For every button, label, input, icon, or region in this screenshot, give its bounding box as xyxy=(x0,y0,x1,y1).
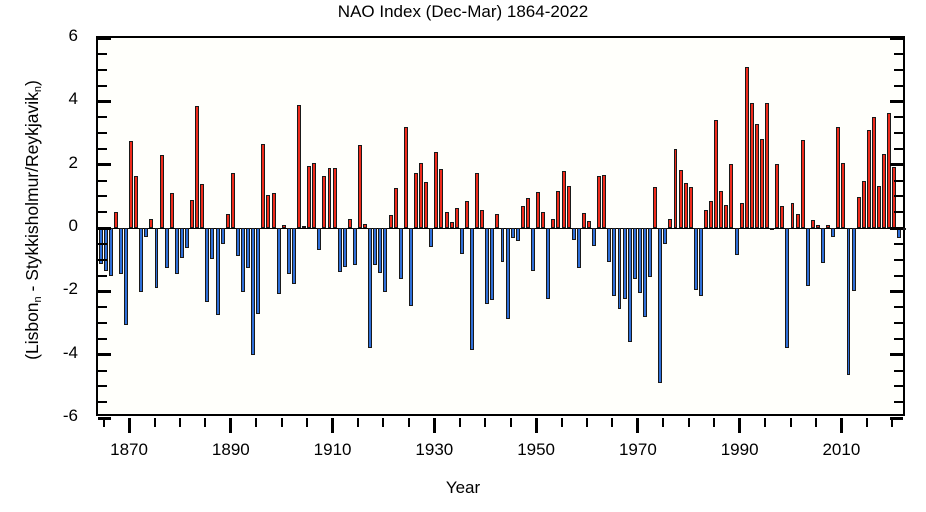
y-tick-major-right xyxy=(890,227,903,230)
y-tick-minor-right xyxy=(894,275,903,277)
bar xyxy=(821,228,825,263)
x-tick-minor xyxy=(154,418,156,427)
y-tick-minor-right xyxy=(894,85,903,87)
bar xyxy=(765,103,769,228)
bar xyxy=(796,214,800,228)
y-tick-major xyxy=(98,100,111,103)
y-tick-major-right xyxy=(890,100,903,103)
bar xyxy=(729,164,733,228)
bar xyxy=(383,228,387,292)
bar xyxy=(785,228,789,348)
bar xyxy=(389,215,393,228)
bar xyxy=(699,228,703,296)
x-tick-minor xyxy=(306,418,308,427)
bar xyxy=(607,228,611,262)
y-tick-minor xyxy=(98,116,107,118)
bar xyxy=(195,106,199,228)
bar xyxy=(460,228,464,254)
bar xyxy=(694,228,698,290)
bar xyxy=(272,193,276,228)
bar xyxy=(439,169,443,228)
y-tick-label: 6 xyxy=(69,27,78,44)
bar xyxy=(348,219,352,229)
x-tick-major xyxy=(128,418,131,433)
bar xyxy=(689,187,693,228)
bar xyxy=(521,206,525,228)
bar xyxy=(704,210,708,228)
bar xyxy=(572,228,576,240)
y-tick-minor xyxy=(98,243,107,245)
y-tick-minor-right xyxy=(894,211,903,213)
y-tick-minor xyxy=(98,401,107,403)
x-tick-minor xyxy=(382,418,384,427)
y-tick-minor xyxy=(98,385,107,387)
bar xyxy=(663,228,667,244)
bar xyxy=(343,228,347,267)
y-tick-minor-right xyxy=(894,322,903,324)
y-tick-label: -6 xyxy=(63,407,78,424)
bar xyxy=(251,228,255,355)
x-tick-label: 2010 xyxy=(822,440,860,460)
bar xyxy=(628,228,632,342)
bar xyxy=(424,182,428,228)
x-tick-label: 1890 xyxy=(212,440,250,460)
bar xyxy=(338,228,342,272)
bar xyxy=(597,176,601,228)
x-tick-major xyxy=(229,418,232,433)
y-tick-major-right xyxy=(890,353,903,356)
chart-title: NAO Index (Dec-Mar) 1864-2022 xyxy=(0,2,926,22)
y-tick-minor-right xyxy=(894,259,903,261)
bar xyxy=(501,228,505,262)
bar xyxy=(434,152,438,228)
x-tick-major xyxy=(331,418,334,433)
bar xyxy=(485,228,489,304)
bar xyxy=(587,221,591,228)
bar xyxy=(170,193,174,228)
y-tick-minor-right xyxy=(894,180,903,182)
bar xyxy=(185,228,189,248)
bar xyxy=(831,228,835,237)
x-tick-minor xyxy=(662,418,664,427)
y-tick-minor xyxy=(98,275,107,277)
bar xyxy=(302,226,306,228)
bar xyxy=(516,228,520,241)
bar xyxy=(740,203,744,228)
bar xyxy=(872,117,876,228)
y-tick-major xyxy=(98,37,111,40)
y-tick-minor-right xyxy=(894,195,903,197)
bar xyxy=(149,219,153,228)
bar xyxy=(165,228,169,268)
bar xyxy=(648,228,652,277)
y-tick-major xyxy=(98,290,111,293)
bar xyxy=(679,170,683,228)
x-axis-tick-labels: 18701890191019301950197019902010 xyxy=(96,440,905,462)
y-tick-minor-right xyxy=(894,306,903,308)
bar xyxy=(317,228,321,250)
bar xyxy=(506,228,510,319)
bar xyxy=(414,173,418,228)
bar xyxy=(551,219,555,229)
bar xyxy=(684,183,688,228)
x-tick-minor xyxy=(561,418,563,427)
y-tick-minor-right xyxy=(894,53,903,55)
bar xyxy=(363,224,367,228)
bar xyxy=(109,228,113,276)
bar xyxy=(455,208,459,228)
bar xyxy=(541,212,545,228)
bar xyxy=(643,228,647,317)
bar xyxy=(429,228,433,247)
bar xyxy=(857,197,861,228)
x-tick-minor xyxy=(459,418,461,427)
y-tick-minor-right xyxy=(894,370,903,372)
bar xyxy=(226,214,230,228)
y-tick-minor-right xyxy=(894,338,903,340)
bar xyxy=(887,113,891,228)
bar xyxy=(638,228,642,293)
x-tick-minor xyxy=(103,418,105,427)
y-axis-tick-labels: -6-4-20246 xyxy=(0,0,96,512)
y-tick-label: 0 xyxy=(69,217,78,234)
bar xyxy=(750,103,754,228)
x-tick-label: 1870 xyxy=(110,440,148,460)
bar xyxy=(826,225,830,228)
x-tick-minor xyxy=(866,418,868,427)
bar xyxy=(714,120,718,228)
bar xyxy=(445,212,449,228)
bar xyxy=(160,155,164,228)
bar xyxy=(241,228,245,292)
bar xyxy=(394,188,398,228)
x-tick-label: 1950 xyxy=(517,440,555,460)
x-tick-major xyxy=(535,418,538,433)
y-tick-major xyxy=(98,163,111,166)
y-tick-label: 2 xyxy=(69,154,78,171)
bar xyxy=(623,228,627,299)
bar xyxy=(582,213,586,228)
bar xyxy=(180,228,184,258)
bar xyxy=(531,228,535,271)
x-axis-ticks xyxy=(96,418,905,434)
bar xyxy=(419,163,423,228)
bar xyxy=(892,167,896,228)
bar xyxy=(200,184,204,228)
x-tick-minor xyxy=(688,418,690,427)
y-tick-minor-right xyxy=(894,148,903,150)
x-tick-major xyxy=(636,418,639,433)
y-tick-major xyxy=(98,227,111,230)
bar xyxy=(292,228,296,284)
bar xyxy=(867,130,871,228)
y-tick-minor xyxy=(98,132,107,134)
bar xyxy=(882,154,886,228)
bar xyxy=(567,186,571,228)
bar xyxy=(724,205,728,228)
bar xyxy=(770,228,774,230)
bar xyxy=(841,163,845,228)
y-tick-minor xyxy=(98,180,107,182)
bar xyxy=(175,228,179,274)
bar xyxy=(124,228,128,325)
bar xyxy=(612,228,616,296)
bar xyxy=(322,176,326,228)
x-tick-minor xyxy=(408,418,410,427)
bar xyxy=(577,228,581,268)
bar xyxy=(297,105,301,228)
bar xyxy=(755,124,759,228)
bar xyxy=(847,228,851,375)
bar xyxy=(674,149,678,228)
bar xyxy=(353,228,357,265)
bar xyxy=(475,173,479,228)
y-tick-minor xyxy=(98,322,107,324)
bar xyxy=(536,192,540,228)
bar xyxy=(852,228,856,291)
y-tick-major-right xyxy=(890,37,903,40)
bar xyxy=(658,228,662,383)
bar xyxy=(633,228,637,279)
nao-index-figure: NAO Index (Dec-Mar) 1864-2022 (Lisbonn -… xyxy=(0,0,926,512)
bar xyxy=(287,228,291,274)
bar xyxy=(526,198,530,228)
y-tick-minor-right xyxy=(894,116,903,118)
bar xyxy=(709,201,713,228)
bar xyxy=(231,173,235,228)
x-tick-minor xyxy=(764,418,766,427)
bar xyxy=(592,228,596,246)
y-tick-major-right xyxy=(890,290,903,293)
y-tick-label: -2 xyxy=(63,280,78,297)
x-tick-label: 1990 xyxy=(721,440,759,460)
bar xyxy=(877,186,881,228)
bar xyxy=(404,127,408,228)
y-tick-minor xyxy=(98,338,107,340)
x-tick-minor xyxy=(357,418,359,427)
x-tick-minor xyxy=(255,418,257,427)
bar xyxy=(470,228,474,350)
x-tick-minor xyxy=(281,418,283,427)
bar xyxy=(816,225,820,228)
bar xyxy=(261,144,265,228)
bar xyxy=(134,176,138,228)
bar xyxy=(735,228,739,255)
y-tick-minor xyxy=(98,211,107,213)
bar xyxy=(333,168,337,228)
bar xyxy=(511,228,515,238)
y-tick-minor-right xyxy=(894,385,903,387)
bar xyxy=(409,228,413,306)
x-tick-minor xyxy=(713,418,715,427)
y-tick-minor-right xyxy=(894,243,903,245)
bar xyxy=(328,168,332,228)
y-tick-minor-right xyxy=(894,132,903,134)
bar xyxy=(378,228,382,273)
x-tick-minor xyxy=(586,418,588,427)
bar xyxy=(368,228,372,348)
bar xyxy=(399,228,403,279)
y-tick-minor xyxy=(98,148,107,150)
bar xyxy=(495,214,499,228)
bar xyxy=(902,228,906,230)
bar xyxy=(760,139,764,228)
bar xyxy=(358,145,362,228)
x-tick-minor xyxy=(204,418,206,427)
bar xyxy=(602,175,606,228)
bar xyxy=(246,228,250,268)
y-tick-minor xyxy=(98,85,107,87)
y-tick-minor-right xyxy=(894,69,903,71)
bar xyxy=(862,181,866,228)
x-tick-minor xyxy=(611,418,613,427)
x-tick-minor xyxy=(484,418,486,427)
y-tick-label: -4 xyxy=(63,344,78,361)
bar xyxy=(139,228,143,292)
y-tick-minor xyxy=(98,195,107,197)
bar xyxy=(307,166,311,228)
bar xyxy=(282,225,286,228)
y-tick-label: 4 xyxy=(69,90,78,107)
bar xyxy=(556,191,560,228)
x-tick-minor xyxy=(510,418,512,427)
bar xyxy=(562,171,566,228)
bar xyxy=(221,228,225,244)
bar xyxy=(129,141,133,228)
bar xyxy=(216,228,220,315)
bar xyxy=(806,228,810,286)
y-tick-minor xyxy=(98,259,107,261)
y-tick-minor xyxy=(98,370,107,372)
bar xyxy=(780,206,784,228)
bar xyxy=(719,191,723,228)
bar xyxy=(210,228,214,259)
x-tick-major xyxy=(433,418,436,433)
bar xyxy=(190,200,194,228)
bar xyxy=(236,228,240,256)
bar xyxy=(114,212,118,228)
bar xyxy=(119,228,123,274)
x-tick-minor xyxy=(179,418,181,427)
bar xyxy=(277,228,281,294)
bar xyxy=(465,201,469,228)
bar xyxy=(653,187,657,228)
bar xyxy=(745,67,749,228)
bar xyxy=(668,219,672,228)
plot-area xyxy=(96,36,905,416)
y-tick-major xyxy=(98,353,111,356)
y-tick-major-right xyxy=(890,163,903,166)
x-tick-label: 1910 xyxy=(314,440,352,460)
bar-series xyxy=(98,38,903,414)
x-tick-minor xyxy=(815,418,817,427)
x-axis-title: Year xyxy=(0,478,926,498)
bar xyxy=(373,228,377,265)
x-tick-minor xyxy=(790,418,792,427)
bar xyxy=(480,210,484,228)
bar xyxy=(205,228,209,302)
x-tick-major xyxy=(738,418,741,433)
bar xyxy=(450,222,454,228)
y-tick-minor-right xyxy=(894,401,903,403)
bar xyxy=(546,228,550,299)
bar xyxy=(144,228,148,237)
bar xyxy=(490,228,494,300)
bar xyxy=(811,220,815,228)
x-tick-minor xyxy=(891,418,893,427)
bar xyxy=(791,203,795,228)
bar xyxy=(155,228,159,288)
bar xyxy=(256,228,260,314)
bar xyxy=(266,195,270,228)
bar xyxy=(801,140,805,228)
bar xyxy=(104,228,108,271)
y-tick-minor xyxy=(98,69,107,71)
x-tick-label: 1970 xyxy=(619,440,657,460)
bar xyxy=(618,228,622,309)
x-tick-label: 1930 xyxy=(415,440,453,460)
bar xyxy=(836,127,840,228)
x-tick-major xyxy=(840,418,843,433)
bar xyxy=(775,164,779,228)
bar xyxy=(312,163,316,228)
y-tick-minor xyxy=(98,53,107,55)
y-tick-minor xyxy=(98,306,107,308)
